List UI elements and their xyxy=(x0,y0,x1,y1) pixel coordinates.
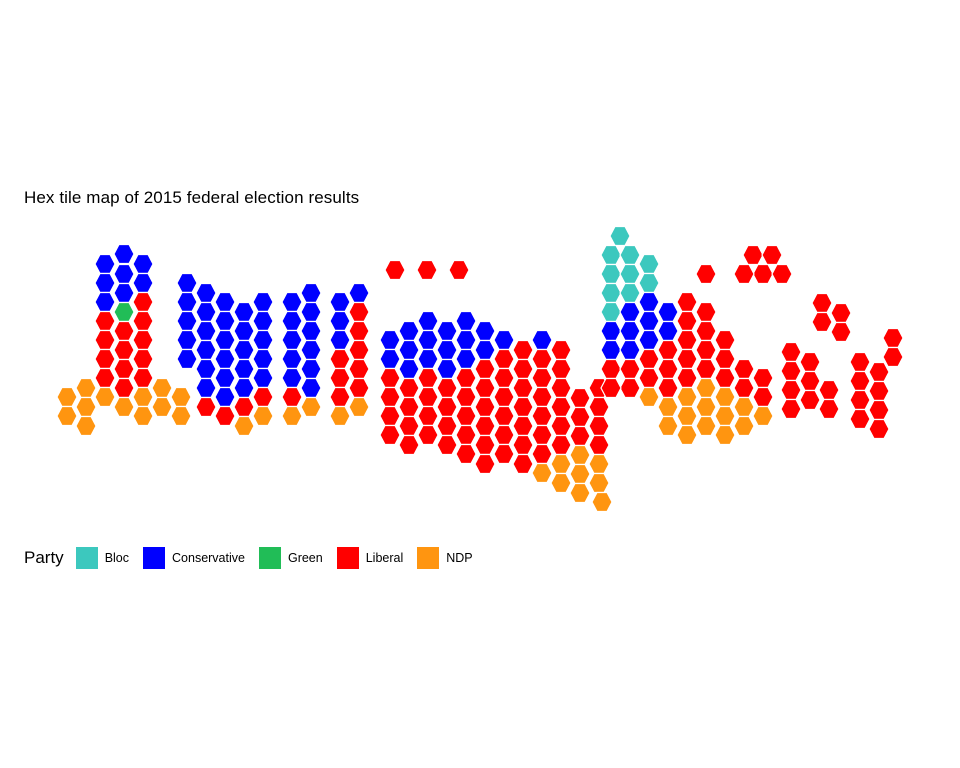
hex-tile-ndp[interactable] xyxy=(349,398,369,417)
hex-tile-ndp[interactable] xyxy=(152,398,172,417)
hex-tile-liberal[interactable] xyxy=(551,341,571,360)
legend-label-conservative: Conservative xyxy=(172,551,245,565)
hex-tile-conservative[interactable] xyxy=(620,322,640,341)
hex-tile-ndp[interactable] xyxy=(639,388,659,407)
hex-tile-liberal[interactable] xyxy=(734,379,754,398)
legend-swatch-green xyxy=(259,547,281,569)
hex-tile-liberal[interactable] xyxy=(234,398,254,417)
hex-tile-liberal[interactable] xyxy=(781,343,801,362)
hex-tile-conservative[interactable] xyxy=(639,331,659,350)
hex-tile-conservative[interactable] xyxy=(253,293,273,312)
hex-tile-ndp[interactable] xyxy=(696,417,716,436)
hex-tile-conservative[interactable] xyxy=(330,293,350,312)
hex-tile-conservative[interactable] xyxy=(601,322,621,341)
hex-tile-liberal[interactable] xyxy=(658,360,678,379)
hex-tile-liberal[interactable] xyxy=(551,360,571,379)
hex-tile-conservative[interactable] xyxy=(437,322,457,341)
hex-tile-ndp[interactable] xyxy=(171,407,191,426)
hex-tile-liberal[interactable] xyxy=(772,265,792,284)
hex-tile-conservative[interactable] xyxy=(282,350,302,369)
hex-tile-conservative[interactable] xyxy=(114,265,134,284)
hex-tile-liberal[interactable] xyxy=(114,341,134,360)
legend-item-conservative[interactable]: Conservative xyxy=(143,547,245,569)
hex-tile-ndp[interactable] xyxy=(551,474,571,493)
hex-tile-conservative[interactable] xyxy=(215,331,235,350)
hex-tile-conservative[interactable] xyxy=(349,284,369,303)
hex-tile-liberal[interactable] xyxy=(399,398,419,417)
hex-tile-liberal[interactable] xyxy=(513,360,533,379)
hex-tile-conservative[interactable] xyxy=(234,322,254,341)
hex-tile-ndp[interactable] xyxy=(734,417,754,436)
hex-tile-liberal[interactable] xyxy=(532,350,552,369)
hex-tile-liberal[interactable] xyxy=(418,369,438,388)
hex-tile-ndp[interactable] xyxy=(114,398,134,417)
hex-tile-ndp[interactable] xyxy=(715,407,735,426)
hex-tile-liberal[interactable] xyxy=(133,293,153,312)
hex-tile-liberal[interactable] xyxy=(95,350,115,369)
hex-tile-liberal[interactable] xyxy=(551,436,571,455)
hex-tile-conservative[interactable] xyxy=(330,331,350,350)
hex-tile-conservative[interactable] xyxy=(196,360,216,379)
hex-tile-liberal[interactable] xyxy=(437,417,457,436)
hex-tile-ndp[interactable] xyxy=(282,407,302,426)
hex-tile-ndp[interactable] xyxy=(658,398,678,417)
hex-tile-liberal[interactable] xyxy=(418,388,438,407)
hex-tile-liberal[interactable] xyxy=(349,360,369,379)
hex-tile-ndp[interactable] xyxy=(76,398,96,417)
hex-tile-ndp[interactable] xyxy=(753,407,773,426)
hex-tile-liberal[interactable] xyxy=(800,353,820,372)
hex-tile-liberal[interactable] xyxy=(494,407,514,426)
hex-tile-conservative[interactable] xyxy=(601,341,621,360)
hex-tile-map xyxy=(0,0,960,768)
hex-tile-bloc[interactable] xyxy=(601,303,621,322)
hex-tile-bloc[interactable] xyxy=(601,284,621,303)
hex-tile-conservative[interactable] xyxy=(282,331,302,350)
hex-tile-liberal[interactable] xyxy=(513,379,533,398)
hex-tile-liberal[interactable] xyxy=(114,322,134,341)
hex-tile-green[interactable] xyxy=(114,303,134,322)
hex-tile-liberal[interactable] xyxy=(380,407,400,426)
hex-tile-liberal[interactable] xyxy=(95,369,115,388)
hex-tile-conservative[interactable] xyxy=(658,303,678,322)
hex-tile-liberal[interactable] xyxy=(743,246,763,265)
hex-tile-conservative[interactable] xyxy=(253,312,273,331)
hex-tile-ndp[interactable] xyxy=(57,388,77,407)
hex-tile-conservative[interactable] xyxy=(114,245,134,264)
hex-tile-liberal[interactable] xyxy=(513,417,533,436)
hex-tile-liberal[interactable] xyxy=(380,369,400,388)
hex-tile-conservative[interactable] xyxy=(456,350,476,369)
hex-tile-liberal[interactable] xyxy=(589,436,609,455)
legend-item-ndp[interactable]: NDP xyxy=(417,547,472,569)
hex-tile-conservative[interactable] xyxy=(282,369,302,388)
hex-tile-liberal[interactable] xyxy=(715,350,735,369)
hex-tile-ndp[interactable] xyxy=(171,388,191,407)
hex-tile-liberal[interactable] xyxy=(812,294,832,313)
hex-tile-liberal[interactable] xyxy=(869,363,889,382)
hex-tile-liberal[interactable] xyxy=(620,379,640,398)
hex-tile-liberal[interactable] xyxy=(437,379,457,398)
hex-tile-liberal[interactable] xyxy=(513,455,533,474)
hex-tile-liberal[interactable] xyxy=(349,379,369,398)
hex-tile-liberal[interactable] xyxy=(456,445,476,464)
hex-tile-liberal[interactable] xyxy=(869,382,889,401)
hex-tile-liberal[interactable] xyxy=(753,369,773,388)
hex-tile-liberal[interactable] xyxy=(253,388,273,407)
hex-tile-bloc[interactable] xyxy=(601,265,621,284)
hex-tile-bloc[interactable] xyxy=(601,246,621,265)
hex-tile-liberal[interactable] xyxy=(475,436,495,455)
hex-tile-conservative[interactable] xyxy=(196,303,216,322)
hex-tile-liberal[interactable] xyxy=(850,372,870,391)
legend-swatch-ndp xyxy=(417,547,439,569)
hex-tile-liberal[interactable] xyxy=(513,436,533,455)
hex-tile-ndp[interactable] xyxy=(551,455,571,474)
hex-tile-liberal[interactable] xyxy=(696,360,716,379)
hex-tile-liberal[interactable] xyxy=(734,360,754,379)
hex-tile-liberal[interactable] xyxy=(800,372,820,391)
hex-tile-liberal[interactable] xyxy=(658,341,678,360)
hex-tile-liberal[interactable] xyxy=(532,407,552,426)
hex-tile-conservative[interactable] xyxy=(234,360,254,379)
hex-tile-liberal[interactable] xyxy=(883,348,903,367)
hex-tile-conservative[interactable] xyxy=(196,322,216,341)
hex-tile-liberal[interactable] xyxy=(418,407,438,426)
hex-tile-liberal[interactable] xyxy=(850,410,870,429)
hex-tile-ndp[interactable] xyxy=(152,379,172,398)
hex-tile-conservative[interactable] xyxy=(620,303,640,322)
hex-tile-liberal[interactable] xyxy=(456,388,476,407)
hex-tile-ndp[interactable] xyxy=(76,417,96,436)
hex-tile-liberal[interactable] xyxy=(658,379,678,398)
hex-tile-liberal[interactable] xyxy=(449,261,469,280)
hex-tile-liberal[interactable] xyxy=(781,381,801,400)
hex-tile-conservative[interactable] xyxy=(418,350,438,369)
hex-tile-liberal[interactable] xyxy=(696,303,716,322)
hex-tile-liberal[interactable] xyxy=(677,331,697,350)
hex-tile-liberal[interactable] xyxy=(349,303,369,322)
hex-tile-conservative[interactable] xyxy=(399,360,419,379)
hex-tile-conservative[interactable] xyxy=(215,369,235,388)
hex-tile-ndp[interactable] xyxy=(570,484,590,503)
legend-swatch-liberal xyxy=(337,547,359,569)
hex-tile-liberal[interactable] xyxy=(330,369,350,388)
hex-tile-liberal[interactable] xyxy=(677,369,697,388)
legend-label-bloc: Bloc xyxy=(105,551,129,565)
hex-tile-liberal[interactable] xyxy=(114,360,134,379)
hex-tile-conservative[interactable] xyxy=(196,379,216,398)
hex-tile-conservative[interactable] xyxy=(330,312,350,331)
hex-tile-conservative[interactable] xyxy=(215,293,235,312)
hex-tile-ndp[interactable] xyxy=(570,465,590,484)
hex-tile-ndp[interactable] xyxy=(532,464,552,483)
hex-tile-liberal[interactable] xyxy=(282,388,302,407)
hex-tile-liberal[interactable] xyxy=(551,379,571,398)
hex-tile-ndp[interactable] xyxy=(677,426,697,445)
hex-tile-conservative[interactable] xyxy=(215,350,235,369)
hex-tile-liberal[interactable] xyxy=(475,417,495,436)
hex-tile-liberal[interactable] xyxy=(753,388,773,407)
hex-tile-ndp[interactable] xyxy=(133,388,153,407)
hex-tile-conservative[interactable] xyxy=(532,331,552,350)
hex-tile-liberal[interactable] xyxy=(677,293,697,312)
hex-tile-liberal[interactable] xyxy=(513,341,533,360)
legend-swatch-conservative xyxy=(143,547,165,569)
hex-tile-conservative[interactable] xyxy=(437,341,457,360)
hex-tile-conservative[interactable] xyxy=(658,322,678,341)
hex-tile-conservative[interactable] xyxy=(133,274,153,293)
hex-tile-liberal[interactable] xyxy=(330,388,350,407)
hex-tile-liberal[interactable] xyxy=(385,261,405,280)
hex-tile-ndp[interactable] xyxy=(734,398,754,417)
hex-tile-liberal[interactable] xyxy=(532,445,552,464)
figure-root: Hex tile map of 2015 federal election re… xyxy=(0,0,960,768)
hex-tile-conservative[interactable] xyxy=(133,255,153,274)
legend-item-bloc[interactable]: Bloc xyxy=(76,547,129,569)
hex-tile-liberal[interactable] xyxy=(570,389,590,408)
hex-tile-liberal[interactable] xyxy=(762,246,782,265)
hex-tile-liberal[interactable] xyxy=(380,426,400,445)
hex-tile-conservative[interactable] xyxy=(234,379,254,398)
hex-tile-conservative[interactable] xyxy=(301,341,321,360)
hex-tile-liberal[interactable] xyxy=(399,436,419,455)
hex-tile-ndp[interactable] xyxy=(715,388,735,407)
hex-tile-liberal[interactable] xyxy=(494,350,514,369)
hex-tile-bloc[interactable] xyxy=(610,227,630,246)
hex-tile-liberal[interactable] xyxy=(95,331,115,350)
hex-tile-liberal[interactable] xyxy=(589,398,609,417)
hex-tile-conservative[interactable] xyxy=(177,350,197,369)
hex-tile-liberal[interactable] xyxy=(781,400,801,419)
hex-tile-liberal[interactable] xyxy=(494,426,514,445)
hex-tile-ndp[interactable] xyxy=(301,398,321,417)
hex-tile-conservative[interactable] xyxy=(620,341,640,360)
hex-tile-conservative[interactable] xyxy=(456,331,476,350)
legend-title: Party xyxy=(24,548,64,568)
hex-tile-conservative[interactable] xyxy=(215,388,235,407)
hex-tile-liberal[interactable] xyxy=(734,265,754,284)
hex-tile-bloc[interactable] xyxy=(620,246,640,265)
hex-tile-conservative[interactable] xyxy=(95,255,115,274)
hex-tile-ndp[interactable] xyxy=(253,407,273,426)
hex-tile-liberal[interactable] xyxy=(532,388,552,407)
hex-tile-liberal[interactable] xyxy=(133,331,153,350)
hex-tile-bloc[interactable] xyxy=(639,274,659,293)
legend-item-green[interactable]: Green xyxy=(259,547,323,569)
hex-tile-liberal[interactable] xyxy=(494,369,514,388)
hex-tile-conservative[interactable] xyxy=(253,350,273,369)
hex-tile-liberal[interactable] xyxy=(475,398,495,417)
hex-tile-liberal[interactable] xyxy=(330,350,350,369)
hex-tile-ndp[interactable] xyxy=(677,407,697,426)
hex-tile-ndp[interactable] xyxy=(234,417,254,436)
hex-tile-liberal[interactable] xyxy=(850,391,870,410)
hex-tile-liberal[interactable] xyxy=(417,261,437,280)
hex-tile-conservative[interactable] xyxy=(639,312,659,331)
hex-tile-liberal[interactable] xyxy=(95,312,115,331)
hex-tile-liberal[interactable] xyxy=(532,369,552,388)
hex-tile-ndp[interactable] xyxy=(95,388,115,407)
hex-tile-liberal[interactable] xyxy=(781,362,801,381)
hex-tile-ndp[interactable] xyxy=(589,455,609,474)
hex-tile-liberal[interactable] xyxy=(753,265,773,284)
hex-tile-liberal[interactable] xyxy=(639,350,659,369)
hex-tile-conservative[interactable] xyxy=(437,360,457,379)
hex-layer xyxy=(57,227,903,512)
hex-tile-liberal[interactable] xyxy=(570,427,590,446)
hex-tile-liberal[interactable] xyxy=(715,369,735,388)
hex-tile-conservative[interactable] xyxy=(253,331,273,350)
hex-tile-liberal[interactable] xyxy=(639,369,659,388)
hex-tile-conservative[interactable] xyxy=(253,369,273,388)
hex-tile-liberal[interactable] xyxy=(196,398,216,417)
hex-tile-bloc[interactable] xyxy=(620,265,640,284)
hex-tile-liberal[interactable] xyxy=(601,379,621,398)
hex-tile-ndp[interactable] xyxy=(715,426,735,445)
hex-tile-conservative[interactable] xyxy=(234,303,254,322)
hex-tile-liberal[interactable] xyxy=(850,353,870,372)
hex-tile-ndp[interactable] xyxy=(570,446,590,465)
hex-tile-liberal[interactable] xyxy=(869,401,889,420)
hex-tile-conservative[interactable] xyxy=(282,293,302,312)
hex-tile-liberal[interactable] xyxy=(494,388,514,407)
hex-tile-liberal[interactable] xyxy=(589,417,609,436)
hex-tile-liberal[interactable] xyxy=(800,391,820,410)
hex-tile-liberal[interactable] xyxy=(715,331,735,350)
hex-tile-liberal[interactable] xyxy=(133,312,153,331)
hex-tile-liberal[interactable] xyxy=(494,445,514,464)
legend-label-green: Green xyxy=(288,551,323,565)
hex-tile-liberal[interactable] xyxy=(677,350,697,369)
hex-tile-conservative[interactable] xyxy=(475,341,495,360)
hex-tile-conservative[interactable] xyxy=(494,331,514,350)
hex-tile-liberal[interactable] xyxy=(677,312,697,331)
hex-tile-conservative[interactable] xyxy=(456,312,476,331)
hex-tile-ndp[interactable] xyxy=(57,407,77,426)
hex-tile-conservative[interactable] xyxy=(418,312,438,331)
hex-tile-liberal[interactable] xyxy=(819,381,839,400)
hex-tile-liberal[interactable] xyxy=(831,304,851,323)
hex-tile-conservative[interactable] xyxy=(301,360,321,379)
hex-tile-liberal[interactable] xyxy=(869,420,889,439)
hex-tile-liberal[interactable] xyxy=(399,379,419,398)
hex-tile-liberal[interactable] xyxy=(532,426,552,445)
hex-tile-conservative[interactable] xyxy=(418,331,438,350)
hex-tile-ndp[interactable] xyxy=(677,388,697,407)
hex-tile-conservative[interactable] xyxy=(196,284,216,303)
hex-tile-liberal[interactable] xyxy=(551,398,571,417)
hex-tile-conservative[interactable] xyxy=(196,341,216,360)
hex-tile-liberal[interactable] xyxy=(475,455,495,474)
legend-label-ndp: NDP xyxy=(446,551,472,565)
hex-tile-liberal[interactable] xyxy=(696,322,716,341)
hex-tile-liberal[interactable] xyxy=(601,360,621,379)
hex-tile-liberal[interactable] xyxy=(570,408,590,427)
hex-tile-liberal[interactable] xyxy=(513,398,533,417)
hex-tile-ndp[interactable] xyxy=(592,493,612,512)
hex-tile-conservative[interactable] xyxy=(399,341,419,360)
hex-tile-conservative[interactable] xyxy=(380,331,400,350)
hex-tile-liberal[interactable] xyxy=(456,426,476,445)
hex-tile-liberal[interactable] xyxy=(456,369,476,388)
hex-tile-conservative[interactable] xyxy=(301,379,321,398)
hex-tile-liberal[interactable] xyxy=(812,313,832,332)
hex-tile-liberal[interactable] xyxy=(399,417,419,436)
hex-tile-liberal[interactable] xyxy=(215,407,235,426)
hex-tile-bloc[interactable] xyxy=(620,284,640,303)
hex-tile-liberal[interactable] xyxy=(114,379,134,398)
hex-tile-liberal[interactable] xyxy=(133,350,153,369)
hex-tile-ndp[interactable] xyxy=(589,474,609,493)
hex-tile-liberal[interactable] xyxy=(819,400,839,419)
hex-tile-conservative[interactable] xyxy=(301,284,321,303)
hex-tile-liberal[interactable] xyxy=(456,407,476,426)
hex-tile-conservative[interactable] xyxy=(234,341,254,360)
hex-tile-liberal[interactable] xyxy=(475,379,495,398)
hex-tile-liberal[interactable] xyxy=(696,341,716,360)
hex-tile-ndp[interactable] xyxy=(76,379,96,398)
hex-tile-conservative[interactable] xyxy=(282,312,302,331)
hex-tile-liberal[interactable] xyxy=(133,369,153,388)
hex-tile-liberal[interactable] xyxy=(418,426,438,445)
hex-tile-conservative[interactable] xyxy=(177,331,197,350)
hex-tile-liberal[interactable] xyxy=(696,265,716,284)
legend-label-liberal: Liberal xyxy=(366,551,404,565)
hex-tile-ndp[interactable] xyxy=(133,407,153,426)
hex-tile-conservative[interactable] xyxy=(639,293,659,312)
hex-tile-ndp[interactable] xyxy=(696,398,716,417)
hex-tile-conservative[interactable] xyxy=(301,322,321,341)
legend-items: BlocConservativeGreenLiberalNDP xyxy=(76,547,487,569)
hex-tile-conservative[interactable] xyxy=(380,350,400,369)
hex-tile-liberal[interactable] xyxy=(349,322,369,341)
hex-tile-liberal[interactable] xyxy=(620,360,640,379)
hex-tile-liberal[interactable] xyxy=(831,323,851,342)
hex-tile-conservative[interactable] xyxy=(177,312,197,331)
hex-tile-liberal[interactable] xyxy=(883,329,903,348)
hex-tile-conservative[interactable] xyxy=(475,322,495,341)
hex-tile-conservative[interactable] xyxy=(95,274,115,293)
hex-tile-liberal[interactable] xyxy=(475,360,495,379)
hex-tile-liberal[interactable] xyxy=(551,417,571,436)
hex-tile-liberal[interactable] xyxy=(349,341,369,360)
hex-tile-liberal[interactable] xyxy=(437,436,457,455)
hex-tile-conservative[interactable] xyxy=(177,293,197,312)
hex-tile-ndp[interactable] xyxy=(330,407,350,426)
legend-swatch-bloc xyxy=(76,547,98,569)
hex-tile-bloc[interactable] xyxy=(639,255,659,274)
hex-tile-conservative[interactable] xyxy=(95,293,115,312)
legend: Party BlocConservativeGreenLiberalNDP xyxy=(24,543,487,573)
hex-tile-liberal[interactable] xyxy=(437,398,457,417)
hex-tile-ndp[interactable] xyxy=(696,379,716,398)
hex-tile-conservative[interactable] xyxy=(114,284,134,303)
hex-tile-conservative[interactable] xyxy=(399,322,419,341)
hex-tile-liberal[interactable] xyxy=(380,388,400,407)
hex-tile-ndp[interactable] xyxy=(658,417,678,436)
hex-tile-conservative[interactable] xyxy=(177,274,197,293)
legend-item-liberal[interactable]: Liberal xyxy=(337,547,404,569)
hex-tile-conservative[interactable] xyxy=(215,312,235,331)
hex-tile-conservative[interactable] xyxy=(301,303,321,322)
